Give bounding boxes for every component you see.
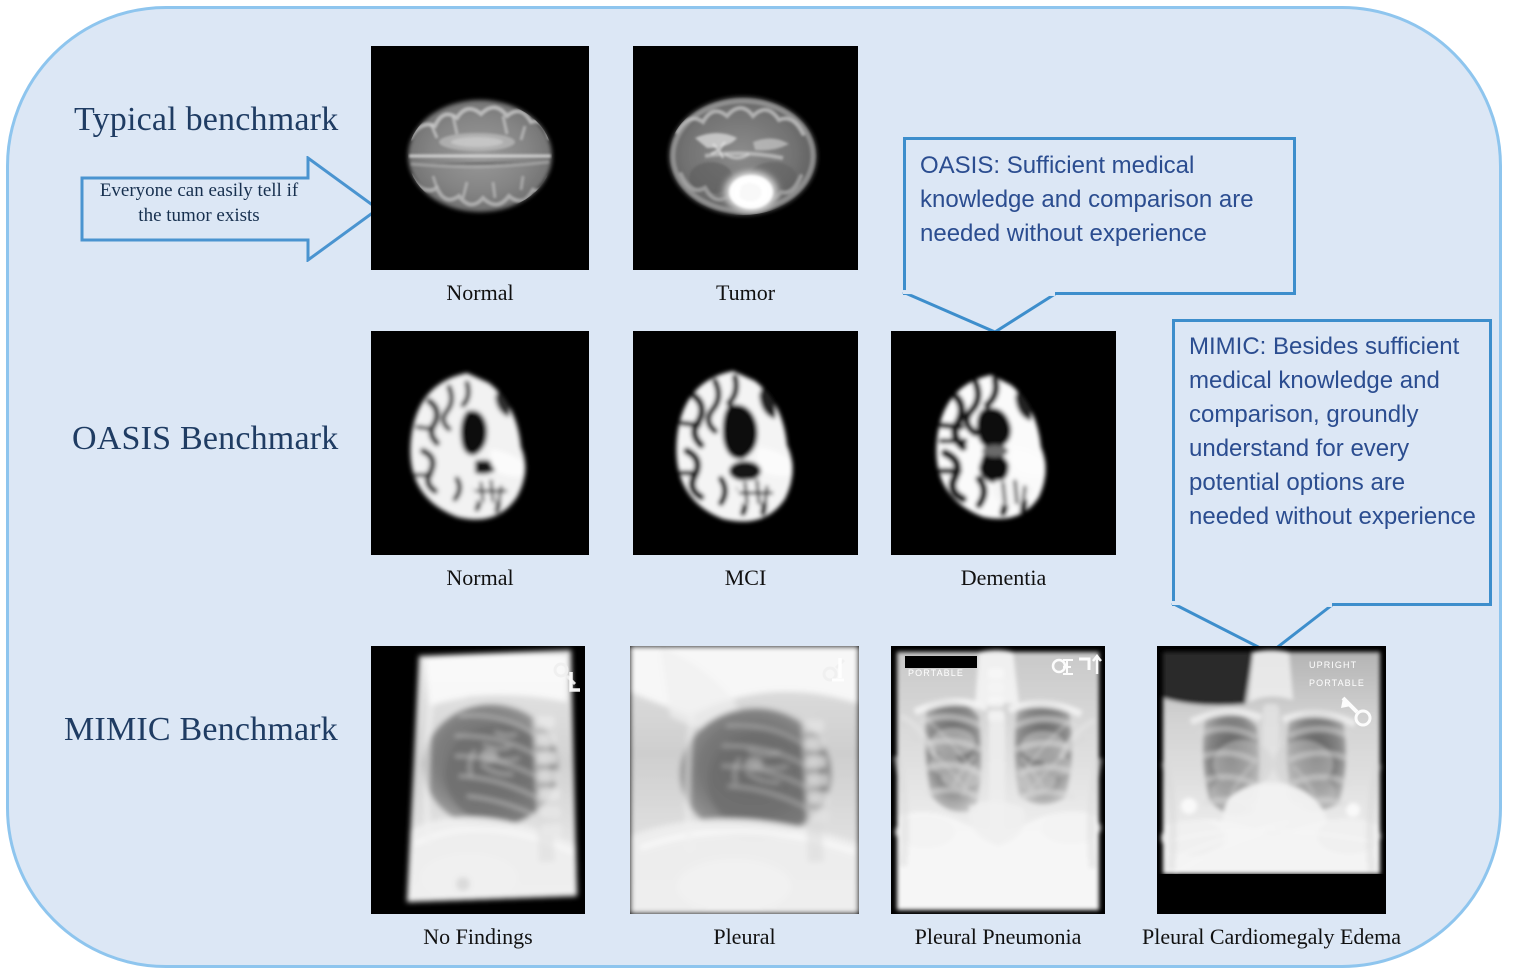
scan-tile-row2-dementia bbox=[891, 331, 1116, 555]
row-title-oasis-benchmark: OASIS Benchmark bbox=[72, 420, 338, 458]
brain-mri-t1-normal-image bbox=[371, 331, 589, 555]
caption-row1-tumor: Tumor bbox=[633, 280, 858, 306]
scan-tile-row2-mci bbox=[633, 331, 858, 555]
callout-oasis-tail bbox=[903, 292, 1163, 336]
chest-xray-frontal-cardiomegaly-edema-image: UPRIGHT PORTABLE bbox=[1157, 646, 1386, 914]
brain-mri-t1-mci-image bbox=[633, 331, 858, 555]
callout-mimic-text: MIMIC: Besides sufficient medical knowle… bbox=[1189, 330, 1481, 534]
caption-row3-no-findings: No Findings bbox=[371, 924, 585, 950]
row-title-typical-benchmark: Typical benchmark bbox=[74, 101, 338, 139]
xray-marker-upright: UPRIGHT bbox=[1309, 660, 1357, 670]
arrow-callout-typical: Everyone can easily tell if the tumor ex… bbox=[80, 156, 380, 262]
xray-marker-portable: PORTABLE bbox=[908, 668, 964, 678]
scan-tile-row3-pleural bbox=[630, 646, 859, 914]
scan-tile-row1-normal bbox=[371, 46, 589, 270]
caption-row2-dementia: Dementia bbox=[891, 565, 1116, 591]
scan-tile-row1-tumor bbox=[633, 46, 858, 270]
brain-mri-t1-dementia-image bbox=[891, 331, 1116, 555]
caption-row3-pleural-pneumonia: Pleural Pneumonia bbox=[891, 924, 1105, 950]
brain-mri-axial-normal-image bbox=[371, 46, 589, 270]
caption-row3-pleural-cardiomegaly-edema: Pleural Cardiomegaly Edema bbox=[1142, 924, 1401, 950]
chest-xray-lateral-pleural-image bbox=[630, 646, 859, 914]
chest-xray-lateral-no-findings-image bbox=[371, 646, 585, 914]
scan-tile-row3-no-findings bbox=[371, 646, 585, 914]
callout-mimic: MIMIC: Besides sufficient medical knowle… bbox=[1172, 319, 1492, 606]
scan-tile-row2-normal bbox=[371, 331, 589, 555]
scan-tile-row3-pleural-cardiomegaly-edema: UPRIGHT PORTABLE bbox=[1157, 646, 1386, 914]
row-title-mimic-benchmark: MIMIC Benchmark bbox=[64, 711, 338, 749]
chest-xray-frontal-pneumonia-image: PORTABLE bbox=[891, 646, 1105, 914]
caption-row1-normal: Normal bbox=[371, 280, 589, 306]
brain-mri-axial-tumor-image bbox=[633, 46, 858, 270]
caption-row2-normal: Normal bbox=[371, 565, 589, 591]
caption-row2-mci: MCI bbox=[633, 565, 858, 591]
figure-root: Typical benchmark OASIS Benchmark MIMIC … bbox=[0, 0, 1520, 977]
xray-marker-portable: PORTABLE bbox=[1309, 678, 1365, 688]
scan-tile-row3-pleural-pneumonia: PORTABLE bbox=[891, 646, 1105, 914]
callout-oasis: OASIS: Sufficient medical knowledge and … bbox=[903, 137, 1296, 295]
caption-row3-pleural: Pleural bbox=[630, 924, 859, 950]
callout-oasis-text: OASIS: Sufficient medical knowledge and … bbox=[920, 149, 1280, 251]
arrow-callout-text: Everyone can easily tell if the tumor ex… bbox=[90, 178, 308, 228]
